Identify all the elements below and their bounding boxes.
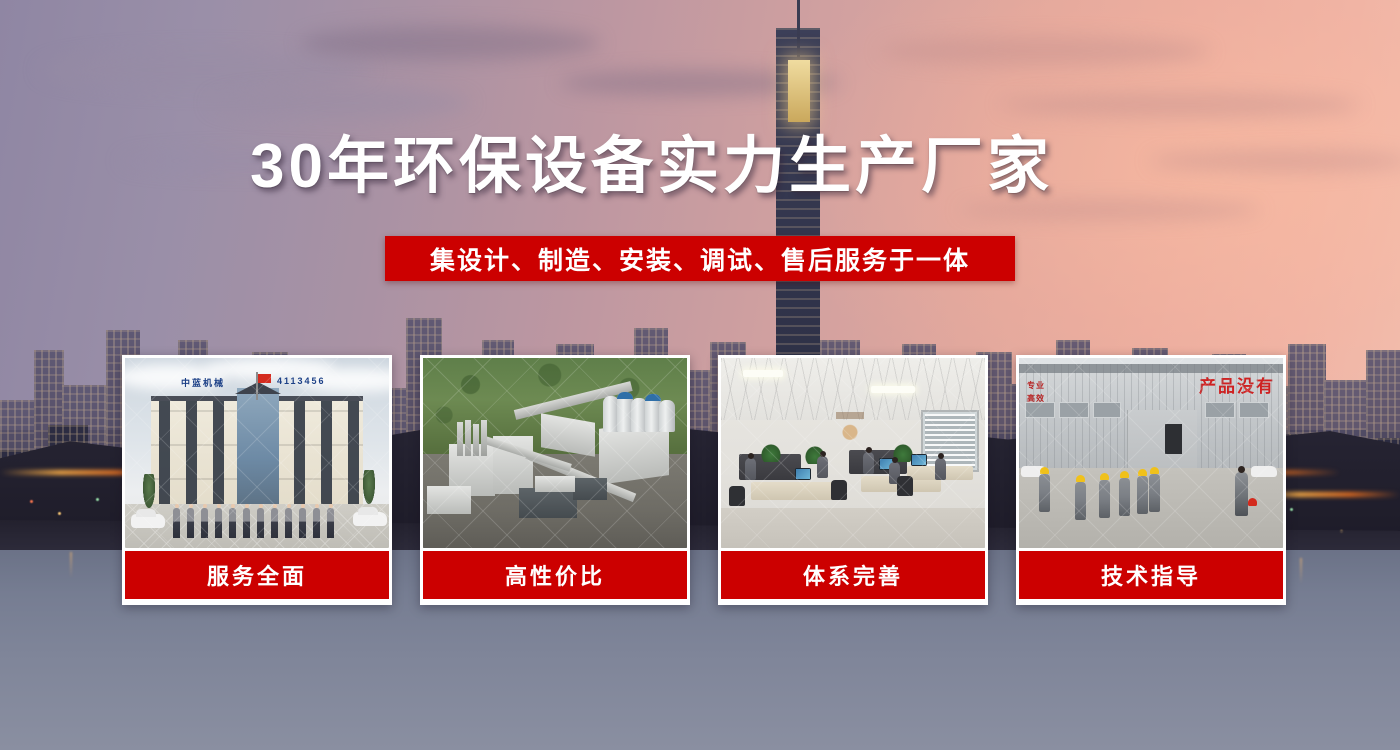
office-interior-photo	[721, 358, 985, 548]
workers-training-photo: 产品没有 专业 高效	[1019, 358, 1283, 548]
watermark-mesh-icon	[423, 358, 687, 548]
tower-spire	[797, 0, 800, 64]
watermark-mesh-icon	[125, 358, 389, 548]
feature-card[interactable]: 中蓝机械 4113456 服务全面	[122, 355, 392, 605]
card-caption: 服务全面	[122, 551, 392, 602]
feature-card-list: 中蓝机械 4113456 服务全面	[122, 355, 1278, 605]
watermark-mesh-icon	[1019, 358, 1283, 548]
page-title: 30年环保设备实力生产厂家	[250, 134, 1150, 199]
subtitle-text: 集设计、制造、安装、调试、售后服务于一体	[430, 241, 970, 277]
tower-crown-light	[788, 60, 810, 122]
company-headquarters-photo: 中蓝机械 4113456	[125, 358, 389, 548]
production-plant-aerial-photo	[423, 358, 687, 548]
card-caption: 技术指导	[1016, 551, 1286, 602]
card-caption: 体系完善	[718, 551, 988, 602]
feature-card[interactable]: 产品没有 专业 高效	[1016, 355, 1286, 605]
subtitle-banner: 集设计、制造、安装、调试、售后服务于一体	[385, 236, 1015, 281]
watermark-mesh-icon	[721, 358, 985, 548]
card-caption: 高性价比	[420, 551, 690, 602]
feature-card[interactable]: 体系完善	[718, 355, 988, 605]
banner-stage: 30年环保设备实力生产厂家 集设计、制造、安装、调试、售后服务于一体 中蓝机械 …	[0, 0, 1400, 750]
feature-card[interactable]: 高性价比	[420, 355, 690, 605]
